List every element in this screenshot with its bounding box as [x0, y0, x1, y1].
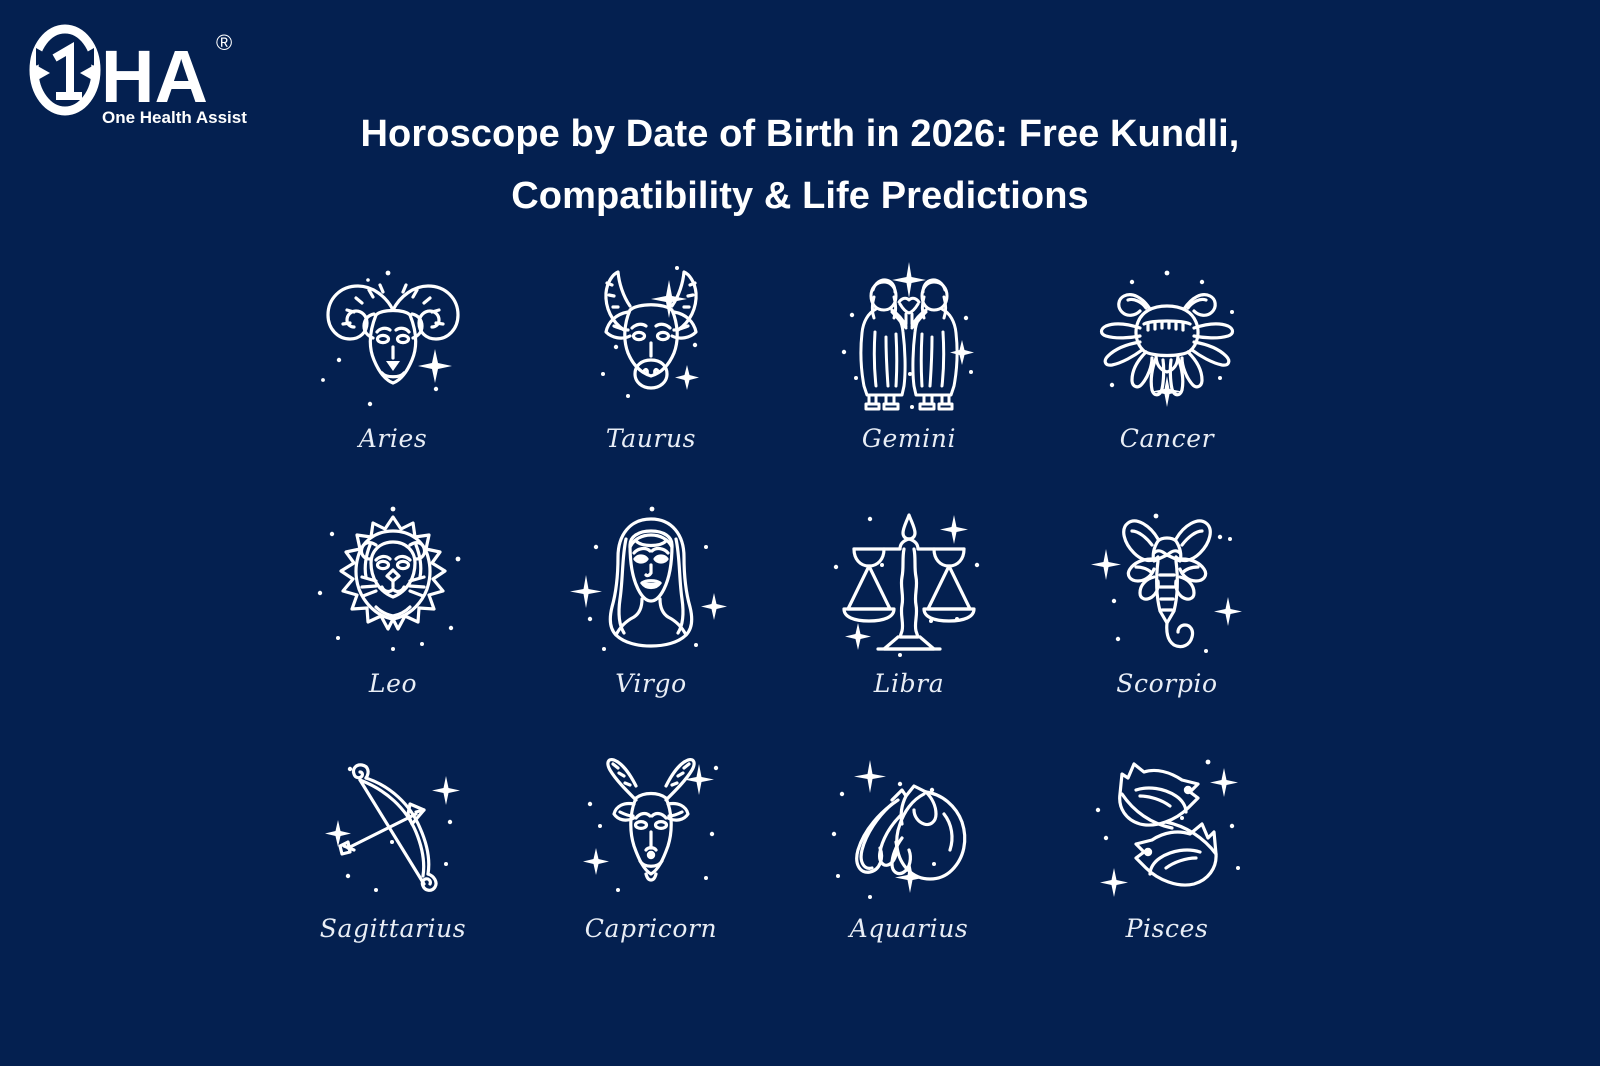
zodiac-label: Aquarius — [850, 914, 969, 943]
zodiac-sign-grid: Aries — [264, 252, 1296, 987]
bow-and-arrow-icon — [298, 742, 488, 912]
zodiac-cell-scorpio[interactable]: Scorpio — [1038, 497, 1296, 742]
zodiac-cell-libra[interactable]: Libra — [780, 497, 1038, 742]
zodiac-label: Virgo — [615, 669, 687, 698]
page-title: Horoscope by Date of Birth in 2026: Free… — [240, 104, 1360, 227]
zodiac-cell-sagittarius[interactable]: Sagittarius — [264, 742, 522, 987]
brand-logo-svg: HA ® One Health Assist — [18, 18, 268, 128]
zodiac-cell-aquarius[interactable]: Aquarius — [780, 742, 1038, 987]
page-title-line-1: Horoscope by Date of Birth in 2026: Free… — [240, 104, 1360, 166]
zodiac-label: Taurus — [606, 424, 696, 453]
zodiac-label: Libra — [874, 669, 944, 698]
zodiac-label: Cancer — [1120, 424, 1214, 453]
zodiac-cell-taurus[interactable]: Taurus — [522, 252, 780, 497]
crab-icon — [1072, 252, 1262, 422]
logo-tagline: One Health Assist — [102, 108, 247, 127]
zodiac-label: Scorpio — [1116, 669, 1217, 698]
oha-o-mark-icon — [34, 29, 96, 111]
lion-head-icon — [298, 497, 488, 667]
zodiac-cell-cancer[interactable]: Cancer — [1038, 252, 1296, 497]
zodiac-cell-leo[interactable]: Leo — [264, 497, 522, 742]
sparkle-decoration — [325, 767, 460, 892]
zodiac-cell-pisces[interactable]: Pisces — [1038, 742, 1296, 987]
zodiac-cell-aries[interactable]: Aries — [264, 252, 522, 497]
sparkle-decoration — [832, 760, 936, 899]
zodiac-label: Pisces — [1126, 914, 1209, 943]
scorpion-icon — [1072, 497, 1262, 667]
two-fish-icon — [1072, 742, 1262, 912]
zodiac-label: Gemini — [862, 424, 956, 453]
twins-icon — [814, 252, 1004, 422]
zodiac-label: Sagittarius — [320, 914, 467, 943]
zodiac-cell-capricorn[interactable]: Capricorn — [522, 742, 780, 987]
zodiac-label: Leo — [369, 669, 417, 698]
maiden-face-icon — [556, 497, 746, 667]
logo-wordmark: HA — [101, 35, 208, 118]
zodiac-label: Capricorn — [585, 914, 718, 943]
brand-logo[interactable]: HA ® One Health Assist — [18, 18, 268, 128]
registered-trademark-icon: ® — [216, 30, 232, 55]
zodiac-cell-virgo[interactable]: Virgo — [522, 497, 780, 742]
bull-head-icon — [556, 252, 746, 422]
ram-head-icon — [298, 252, 488, 422]
sparkle-decoration — [570, 507, 727, 651]
zodiac-label: Aries — [359, 424, 428, 453]
water-bearer-jug-icon — [814, 742, 1004, 912]
sparkle-decoration — [601, 266, 699, 398]
scales-icon — [814, 497, 1004, 667]
page-title-line-2: Compatibility & Life Predictions — [240, 166, 1360, 228]
goat-head-icon — [556, 742, 746, 912]
zodiac-cell-gemini[interactable]: Gemini — [780, 252, 1038, 497]
